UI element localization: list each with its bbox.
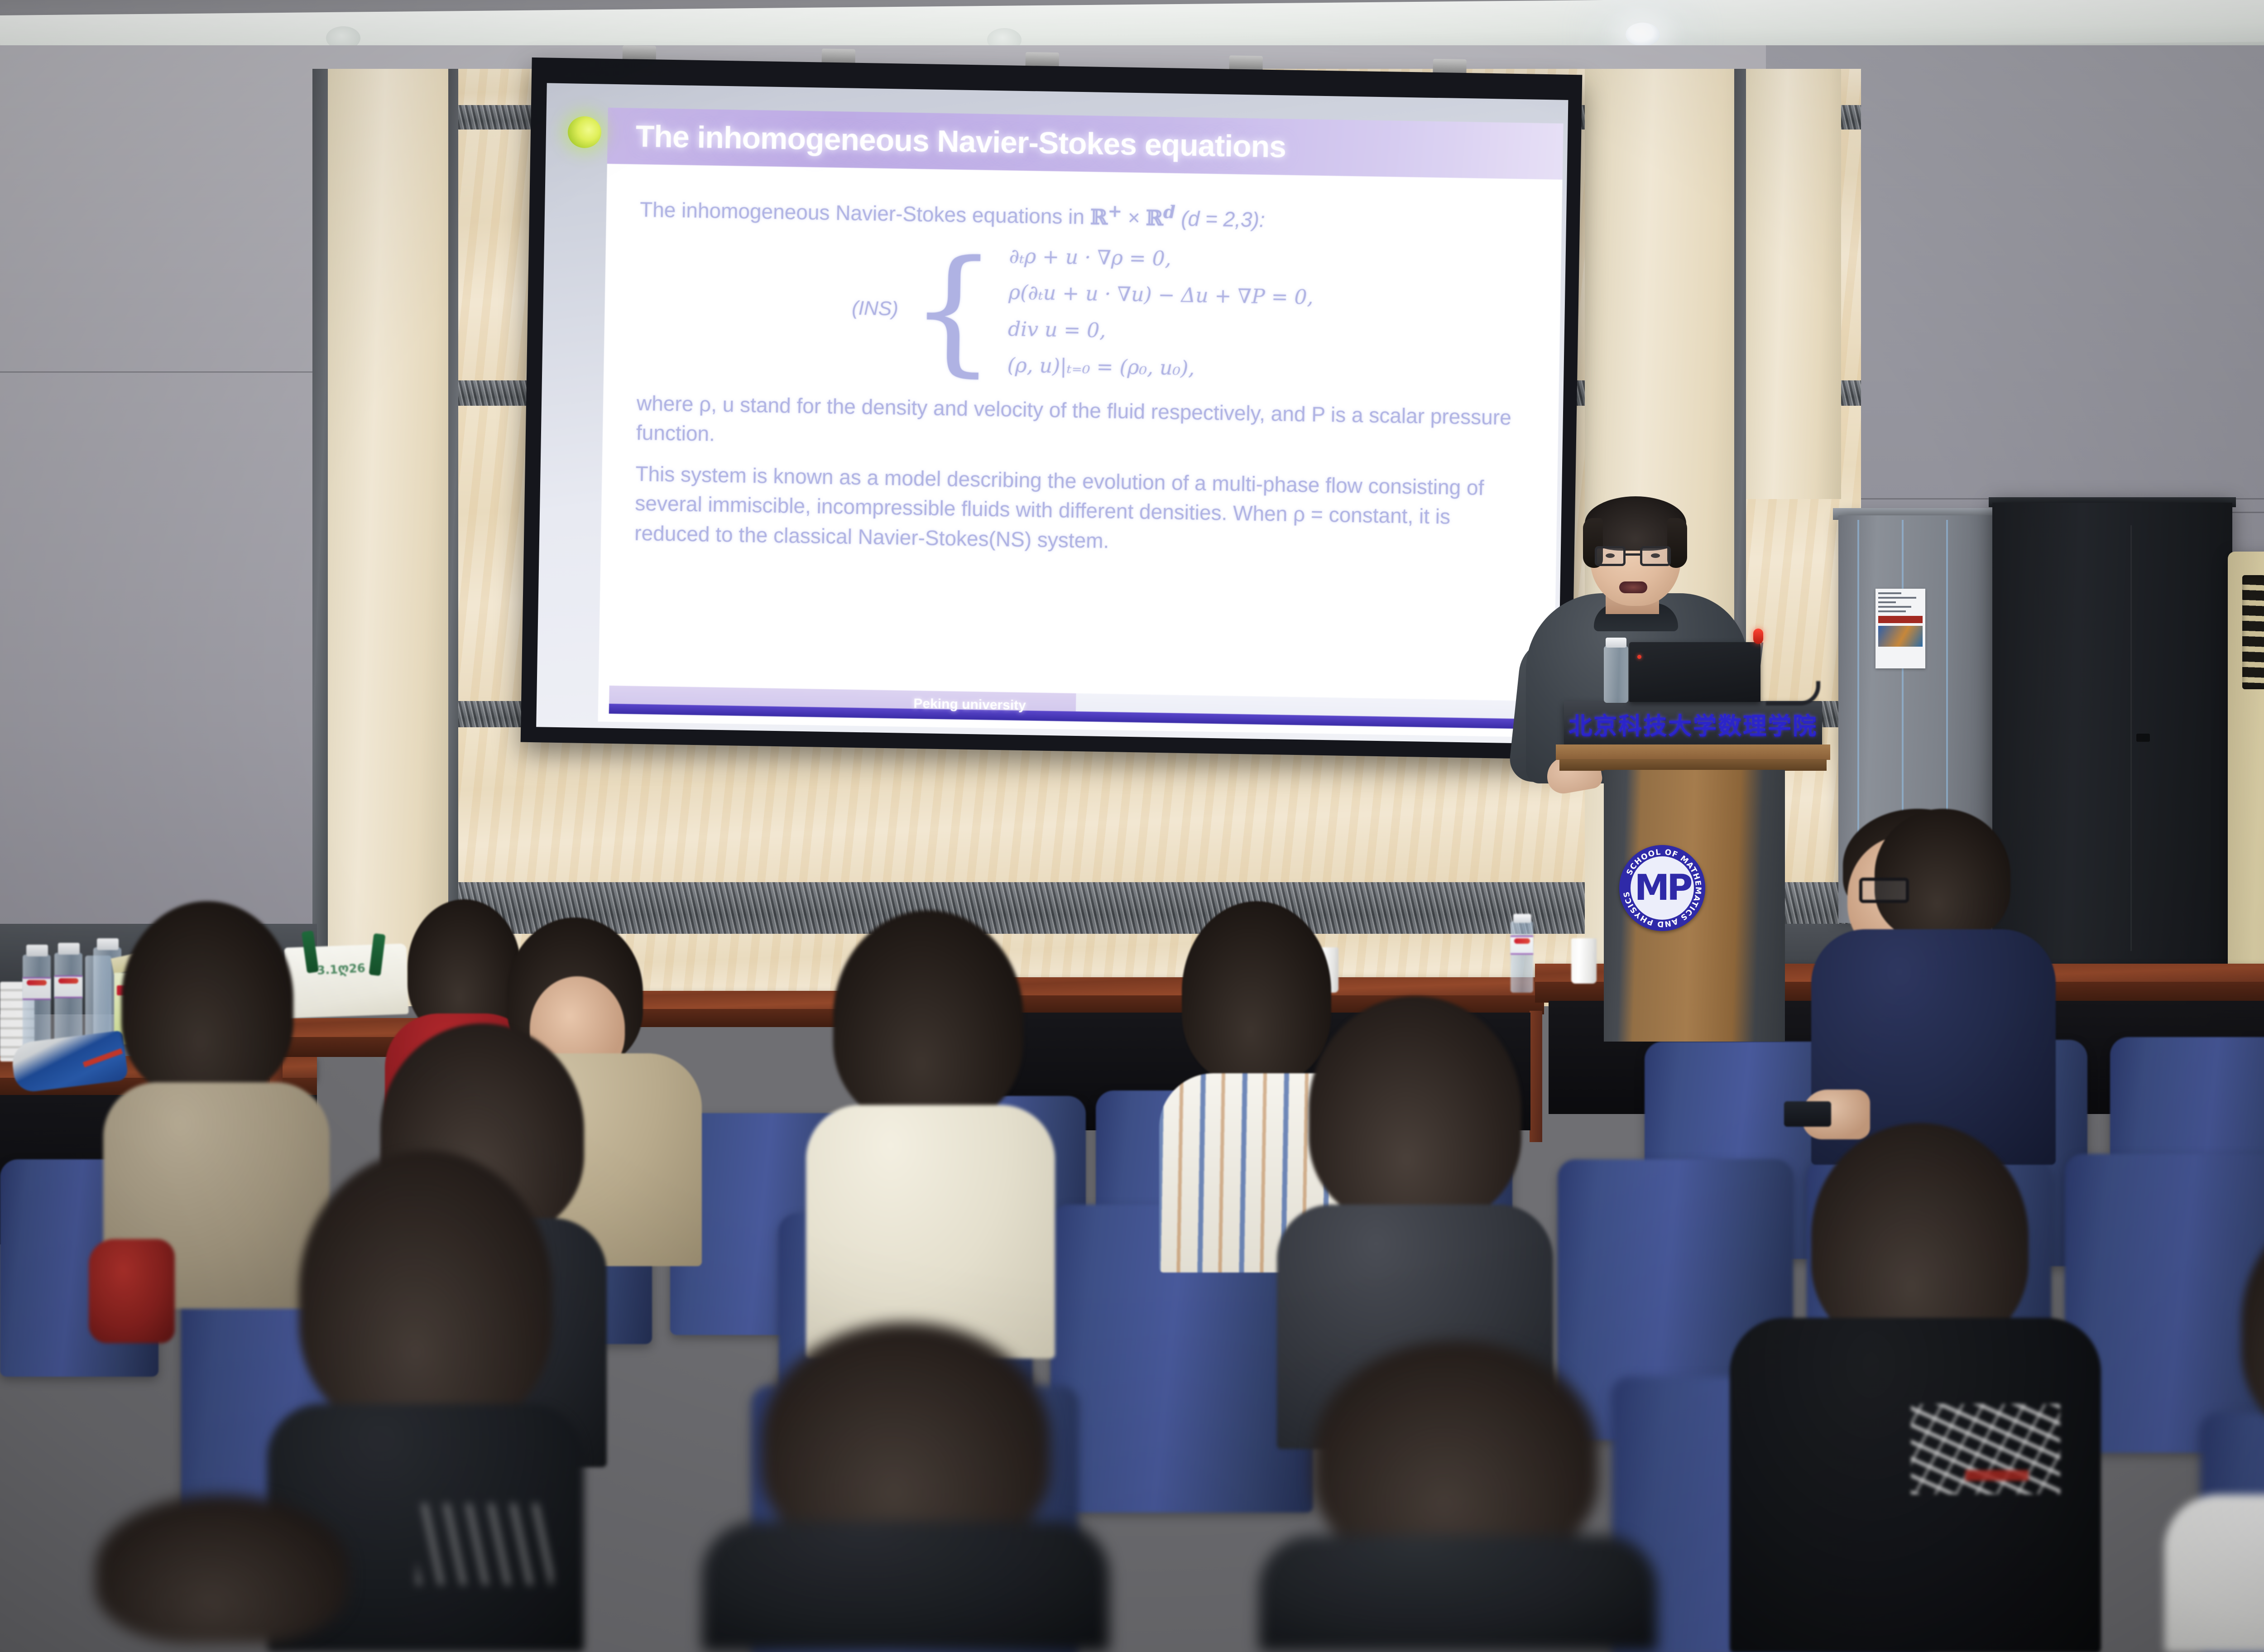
presenter-mouth	[1619, 581, 1647, 593]
equation-lines: ∂ₜρ + u · ∇ρ = 0, ρ(∂ₜu + u · ∇u) − Δu +…	[1007, 242, 1314, 385]
slide-title: The inhomogeneous Navier-Stokes equation…	[635, 119, 1286, 165]
person-dark-jacket	[1259, 1535, 1657, 1652]
slide-intro-paragraph: The inhomogeneous Navier-Stokes equation…	[640, 192, 1529, 239]
laptop[interactable]	[1629, 642, 1760, 702]
podium-nameplate: 北京科技大学数理学院	[1564, 701, 1822, 746]
cabinet-lock-icon[interactable]	[2136, 734, 2150, 742]
ac-air-grille	[2242, 575, 2264, 689]
person-hair	[1313, 1340, 1598, 1567]
person-dark-jacket	[702, 1522, 1109, 1652]
pilaster	[328, 69, 448, 1006]
projection-screen[interactable]: The inhomogeneous Navier-Stokes equation…	[521, 58, 1583, 759]
podium-ledge	[1556, 744, 1830, 760]
water-bottle[interactable]	[23, 955, 51, 1052]
pilaster-joint	[448, 69, 458, 1006]
list-item	[54, 1494, 398, 1652]
eyeglasses-icon	[1640, 546, 1671, 566]
jacket-graphic-print	[417, 1503, 552, 1585]
equation-line: div u = 0,	[1007, 315, 1313, 349]
reals-plus-superscript: +	[1108, 201, 1122, 222]
logo-ring-label: SCHOOL OF MATHEMATICS AND PHYSICS	[1622, 848, 1703, 928]
water-bottle[interactable]	[1511, 921, 1533, 993]
svg-text:SCHOOL OF MATHEMATICS AND PHYS: SCHOOL OF MATHEMATICS AND PHYSICS	[1622, 848, 1703, 928]
school-logo: SCHOOL OF MATHEMATICS AND PHYSICS MP	[1619, 845, 1705, 931]
hoodie-graphic-accent	[1965, 1470, 2029, 1481]
person-hair	[299, 1150, 552, 1431]
equation-label: (INS)	[852, 294, 899, 323]
bottle-cap	[1513, 914, 1531, 923]
hoodie-graphic-print	[1911, 1404, 2060, 1494]
reals-d-symbol: ℝ	[1146, 206, 1163, 231]
bottle-label	[54, 975, 82, 998]
list-item	[806, 910, 1060, 1354]
eyeglasses-bridge	[1625, 553, 1641, 556]
list-item	[1730, 1123, 2101, 1652]
person-cream-sweater	[806, 1105, 1055, 1359]
slide-intro-text: The inhomogeneous Navier-Stokes equation…	[640, 197, 1085, 228]
bottle-cap	[58, 943, 80, 955]
slide-paragraph-2: This system is known as a model describi…	[634, 459, 1524, 562]
slide-body: The inhomogeneous Navier-Stokes equation…	[599, 164, 1563, 694]
person-white-shirt	[2164, 1494, 2264, 1652]
presentation-slide: The inhomogeneous Navier-Stokes equation…	[598, 108, 1563, 738]
water-bottle[interactable]	[1604, 646, 1628, 703]
podium-nameplate-text: 北京科技大学数理学院	[1568, 707, 1818, 741]
left-brace-icon: {	[909, 264, 997, 355]
eyeglasses-icon	[1595, 546, 1626, 566]
backpack[interactable]	[89, 1239, 175, 1343]
cabinet-door-seam	[2130, 525, 2132, 951]
person-hair	[121, 901, 293, 1096]
list-item	[1784, 809, 2083, 1162]
laser-pointer-dot-icon	[567, 116, 601, 148]
equation-line: ∂ₜρ + u · ∇ρ = 0,	[1009, 242, 1314, 276]
list-item	[702, 1322, 1109, 1652]
reals-plus-symbol: ℝ	[1090, 205, 1108, 230]
list-item	[1259, 1340, 1657, 1652]
slide-intro-dimension: (d = 2,3):	[1181, 206, 1265, 231]
equation-block: (INS) { ∂ₜρ + u · ∇ρ = 0, ρ(∂ₜu + u · ∇u…	[637, 236, 1528, 389]
reals-d-superscript: d	[1163, 202, 1176, 222]
person-hair	[1309, 996, 1521, 1223]
laptop-power-led-icon	[1637, 655, 1641, 659]
podium-ledge	[1559, 759, 1827, 771]
equation-line: ρ(∂ₜu + u · ∇u) − Δu + ∇P = 0,	[1008, 279, 1314, 312]
times-symbol: ×	[1127, 206, 1140, 229]
logo-ring-text-svg: SCHOOL OF MATHEMATICS AND PHYSICS	[1619, 845, 1705, 931]
bottle-label	[1511, 936, 1533, 955]
bottle-cap	[26, 945, 48, 956]
cabinet-instruction-poster	[1875, 589, 1925, 668]
person-hair	[2241, 1205, 2264, 1440]
slide-paragraph-1: where ρ, u stand for the density and vel…	[636, 388, 1525, 462]
bottle-cap	[1606, 638, 1626, 648]
lecture-hall-scene: The inhomogeneous Navier-Stokes equation…	[0, 0, 2264, 1652]
pilaster-joint	[312, 69, 328, 1006]
eyeglasses-icon	[1859, 878, 1909, 903]
person-hair-back	[1875, 809, 2010, 940]
bottle-label	[23, 977, 51, 1000]
person-hair	[95, 1494, 349, 1644]
microphone-icon	[1753, 629, 1763, 644]
equation-line: (ρ, u)|ₜ₌₀ = (ρ₀, u₀),	[1007, 351, 1312, 385]
screen-surface: The inhomogeneous Navier-Stokes equation…	[536, 83, 1568, 744]
person-hair	[1811, 1123, 2029, 1349]
person-hair	[833, 910, 1023, 1123]
footer-institution: Peking university	[913, 696, 1026, 713]
downlight-right-icon	[1626, 23, 1660, 46]
pilaster	[1746, 69, 1841, 499]
list-item	[2164, 1205, 2264, 1652]
